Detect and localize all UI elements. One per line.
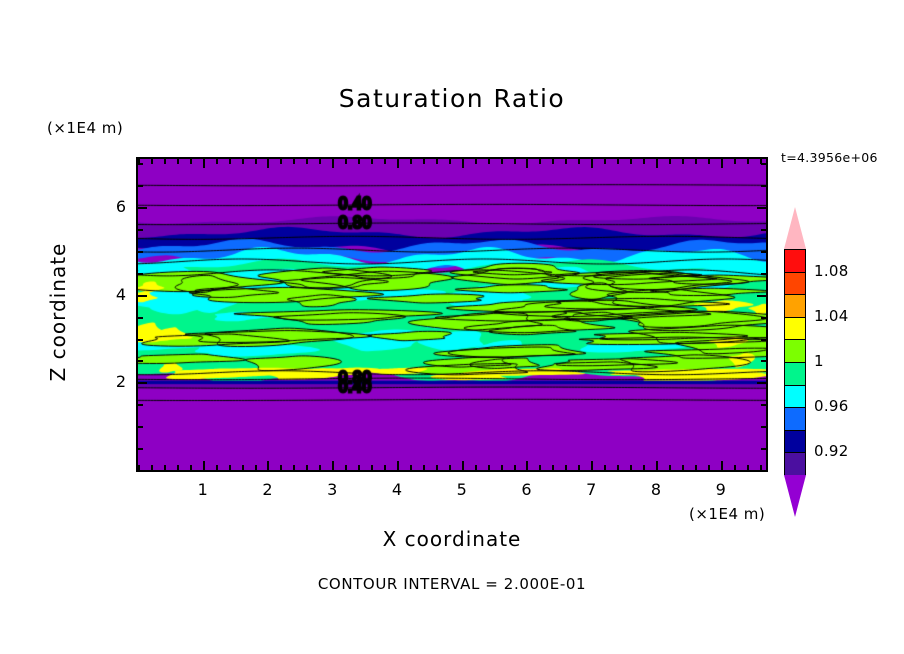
x-tick: [319, 465, 321, 470]
x-tick-label: 9: [706, 480, 736, 499]
x-tick: [708, 159, 710, 164]
x-tick: [539, 159, 541, 164]
x-tick: [319, 159, 321, 164]
x-tick: [656, 159, 658, 168]
x-tick-label: 5: [447, 480, 477, 499]
y-tick: [761, 339, 766, 341]
colorbar-band-7: [785, 386, 805, 409]
x-tick: [255, 465, 257, 470]
x-tick: [203, 461, 205, 470]
colorbar-tick-label: 1: [814, 352, 824, 370]
x-tick: [332, 461, 334, 470]
x-tick: [216, 159, 218, 164]
y-tick: [761, 273, 766, 275]
y-tick: [138, 404, 143, 406]
x-tick: [630, 159, 632, 164]
x-tick: [669, 465, 671, 470]
x-tick: [514, 465, 516, 470]
x-tick-label: 8: [641, 480, 671, 499]
colorbar-band-3: [785, 295, 805, 318]
x-tick: [345, 159, 347, 164]
colorbar-band-6: [785, 363, 805, 386]
x-tick: [514, 159, 516, 164]
x-tick: [267, 461, 269, 470]
x-tick: [552, 465, 554, 470]
y-tick: [138, 163, 143, 165]
x-tick: [358, 465, 360, 470]
y-tick: [761, 360, 766, 362]
y-tick: [138, 273, 143, 275]
x-tick: [410, 159, 412, 164]
x-tick-label: 3: [317, 480, 347, 499]
colorbar-tick-label: 0.96: [814, 397, 849, 415]
x-tick: [475, 465, 477, 470]
y-tick-label: 4: [100, 285, 126, 304]
x-tick: [604, 159, 606, 164]
x-tick: [293, 465, 295, 470]
y-tick: [761, 317, 766, 319]
y-tick: [761, 426, 766, 428]
y-tick: [138, 382, 147, 384]
colorbar-band-5: [785, 340, 805, 363]
x-tick: [721, 461, 723, 470]
x-tick: [462, 159, 464, 168]
x-tick: [475, 159, 477, 164]
x-tick-label: 4: [382, 480, 412, 499]
x-tick: [358, 159, 360, 164]
colorbar-band-1: [785, 250, 805, 273]
x-tick: [332, 159, 334, 168]
x-tick: [203, 159, 205, 168]
x-tick: [345, 465, 347, 470]
x-tick: [734, 465, 736, 470]
x-tick: [371, 465, 373, 470]
y-tick: [138, 470, 143, 472]
x-tick: [423, 465, 425, 470]
page-title: Saturation Ratio: [0, 84, 904, 113]
x-tick-label: 7: [576, 480, 606, 499]
x-tick: [242, 159, 244, 164]
x-tick: [164, 159, 166, 164]
colorbar-band-9: [785, 431, 805, 454]
colorbar-bands: [784, 249, 806, 475]
x-tick: [526, 159, 528, 168]
y-tick: [757, 207, 766, 209]
y-tick: [761, 163, 766, 165]
x-tick: [306, 465, 308, 470]
x-axis-title: X coordinate: [0, 527, 904, 551]
x-tick: [604, 465, 606, 470]
x-tick-label: 1: [188, 480, 218, 499]
x-tick: [747, 159, 749, 164]
x-tick: [190, 465, 192, 470]
x-tick: [423, 159, 425, 164]
x-tick-label: 2: [252, 480, 282, 499]
x-tick: [488, 159, 490, 164]
y-tick: [138, 448, 143, 450]
colorbar[interactable]: 1.081.0410.960.92: [784, 207, 806, 517]
x-tick: [151, 159, 153, 164]
y-tick: [761, 448, 766, 450]
x-tick: [436, 159, 438, 164]
x-tick: [565, 465, 567, 470]
y-tick: [761, 251, 766, 253]
colorbar-band-10: [785, 453, 805, 476]
colorbar-tick-label: 0.92: [814, 442, 849, 460]
y-tick: [138, 426, 143, 428]
x-tick: [449, 465, 451, 470]
x-tick: [384, 465, 386, 470]
contour-field: [138, 159, 766, 470]
x-tick: [267, 159, 269, 168]
x-tick: [501, 465, 503, 470]
y-tick: [761, 185, 766, 187]
x-axis-unit-label: (×1E4 m): [689, 505, 765, 523]
x-tick: [682, 465, 684, 470]
x-tick: [501, 159, 503, 164]
y-tick: [138, 339, 143, 341]
x-tick: [229, 159, 231, 164]
x-tick: [721, 159, 723, 168]
x-tick: [190, 159, 192, 164]
colorbar-tick-label: 1.04: [814, 307, 849, 325]
colorbar-band-4: [785, 318, 805, 341]
y-tick: [138, 207, 147, 209]
x-tick: [526, 461, 528, 470]
x-tick-label: 6: [511, 480, 541, 499]
x-tick: [462, 461, 464, 470]
x-tick: [695, 465, 697, 470]
x-tick: [669, 159, 671, 164]
x-tick: [371, 159, 373, 164]
x-tick: [151, 465, 153, 470]
contour-plot-area[interactable]: [136, 157, 768, 472]
contour-interval-caption: CONTOUR INTERVAL = 2.000E-01: [0, 575, 904, 593]
x-tick: [591, 461, 593, 470]
colorbar-band-8: [785, 408, 805, 431]
time-annotation: t=4.3956e+06: [781, 150, 878, 165]
x-tick: [449, 159, 451, 164]
x-tick: [682, 159, 684, 164]
x-tick: [656, 461, 658, 470]
x-tick: [436, 465, 438, 470]
x-tick: [164, 465, 166, 470]
z-axis-unit-label: (×1E4 m): [47, 119, 123, 137]
colorbar-band-2: [785, 273, 805, 296]
x-tick: [177, 159, 179, 164]
x-tick: [591, 159, 593, 168]
x-tick: [643, 465, 645, 470]
x-tick: [734, 159, 736, 164]
x-tick: [280, 159, 282, 164]
x-tick: [617, 465, 619, 470]
x-tick: [384, 159, 386, 164]
y-tick: [138, 295, 147, 297]
x-tick: [643, 159, 645, 164]
x-tick: [630, 465, 632, 470]
y-tick: [761, 229, 766, 231]
x-tick: [539, 465, 541, 470]
x-tick: [293, 159, 295, 164]
x-tick: [397, 159, 399, 168]
y-tick: [138, 251, 143, 253]
x-tick: [747, 465, 749, 470]
y-tick: [138, 317, 143, 319]
x-tick: [242, 465, 244, 470]
x-tick: [578, 159, 580, 164]
x-tick: [488, 465, 490, 470]
colorbar-cap-top: [784, 207, 806, 249]
y-tick: [761, 470, 766, 472]
x-tick: [552, 159, 554, 164]
x-tick: [229, 465, 231, 470]
y-tick-label: 6: [100, 197, 126, 216]
y-tick: [761, 404, 766, 406]
x-tick: [306, 159, 308, 164]
x-tick: [695, 159, 697, 164]
x-tick: [255, 159, 257, 164]
y-tick: [757, 382, 766, 384]
x-tick: [565, 159, 567, 164]
y-tick-label: 2: [100, 372, 126, 391]
y-tick: [138, 360, 143, 362]
x-tick: [177, 465, 179, 470]
x-tick: [280, 465, 282, 470]
y-tick: [757, 295, 766, 297]
colorbar-tick-label: 1.08: [814, 262, 849, 280]
x-tick: [397, 461, 399, 470]
y-axis-title: Z coordinate: [46, 222, 70, 402]
x-tick: [578, 465, 580, 470]
colorbar-cap-bottom: [784, 475, 806, 517]
x-tick: [708, 465, 710, 470]
y-tick: [138, 229, 143, 231]
x-tick: [410, 465, 412, 470]
x-tick: [617, 159, 619, 164]
x-tick: [216, 465, 218, 470]
y-tick: [138, 185, 143, 187]
